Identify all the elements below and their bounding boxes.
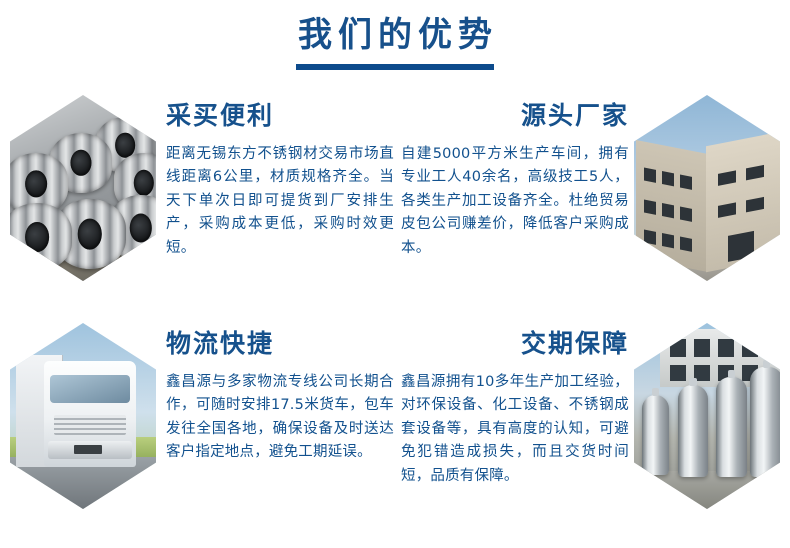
window [718,339,734,357]
advantage-item-delivery-guarantee: 交期保障 鑫昌源拥有10多年生产加工经验，对环保设备、化工设备、不锈钢成套设备等… [395,316,790,538]
stainless-tanks-illustration [634,323,780,509]
advantage-item-source-factory: 源头厂家 自建5000平方米生产车间，拥有专业工人40余名，高级技工5人，各类生… [395,88,790,310]
building-wall-right [706,132,780,272]
advantage-heading: 交期保障 [401,330,629,359]
window [662,171,674,186]
page-title: 我们的优势 [0,16,790,54]
window [746,197,764,212]
stainless-tanks-photo [634,323,780,509]
stainless-tank [716,377,747,477]
steel-coils-photo [10,95,156,281]
title-underline-rule [296,64,494,70]
window [670,365,686,381]
advantage-text-block: 采买便利 距离无锡东方不锈钢材交易市场直线距离6公里，材质规格齐全。当天下单次日… [166,102,394,260]
advantages-grid: 采买便利 距离无锡东方不锈钢材交易市场直线距离6公里，材质规格齐全。当天下单次日… [0,88,790,548]
advantages-row-1: 采买便利 距离无锡东方不锈钢材交易市场直线距离6公里，材质规格齐全。当天下单次日… [0,88,790,310]
advantage-body: 鑫昌源与多家物流专线公司长期合作，可随时安排17.5米货车，包车发往全国各地，确… [166,371,394,465]
advantage-heading: 物流快捷 [166,330,394,359]
advantage-body: 距离无锡东方不锈钢材交易市场直线距离6公里，材质规格齐全。当天下单次日即可提货到… [166,143,394,260]
window [662,233,674,248]
advantage-text-block: 物流快捷 鑫昌源与多家物流专线公司长期合作，可随时安排17.5米货车，包车发往全… [166,330,394,465]
factory-building-photo [634,95,780,281]
delivery-truck-illustration [10,323,156,509]
advantage-body: 鑫昌源拥有10多年生产加工经验，对环保设备、化工设备、不锈钢成套设备等，具有高度… [401,371,629,488]
advantage-text-block: 交期保障 鑫昌源拥有10多年生产加工经验，对环保设备、化工设备、不锈钢成套设备等… [401,330,629,488]
entrance-door [728,231,754,262]
concrete-pad [634,471,780,509]
advantage-heading: 采买便利 [166,102,394,131]
stainless-tank [678,385,708,477]
advantage-item-fast-logistics: 物流快捷 鑫昌源与多家物流专线公司长期合作，可随时安排17.5米货车，包车发往全… [0,316,395,538]
advantage-text-block: 源头厂家 自建5000平方米生产车间，拥有专业工人40余名，高级技工5人，各类生… [401,102,629,260]
window [680,207,692,222]
factory-building-illustration [634,95,780,281]
window [680,237,692,252]
advantage-heading: 源头厂家 [401,102,629,131]
steel-coils-illustration [10,95,156,281]
truck-grille [54,415,126,435]
truck-license-plate [74,445,102,454]
window [644,168,656,183]
advantages-row-2: 物流快捷 鑫昌源与多家物流专线公司长期合作，可随时安排17.5米货车，包车发往全… [0,316,790,538]
window [670,339,686,357]
stainless-tank [750,367,780,477]
coil [10,203,72,271]
delivery-truck-photo [10,323,156,509]
truck-windshield [50,375,130,403]
window [644,230,656,245]
window [718,170,736,185]
stainless-tank [642,395,669,475]
window [680,175,692,190]
window [694,339,710,357]
window [746,165,764,180]
window [644,200,656,215]
window [742,339,758,357]
building-wall-left [636,140,708,272]
page-header: 我们的优势 [0,0,790,70]
advantage-item-purchase-convenience: 采买便利 距离无锡东方不锈钢材交易市场直线距离6公里，材质规格齐全。当天下单次日… [0,88,395,310]
window [718,202,736,217]
advantage-body: 自建5000平方米生产车间，拥有专业工人40余名，高级技工5人，各类生产加工设备… [401,143,629,260]
window [662,203,674,218]
